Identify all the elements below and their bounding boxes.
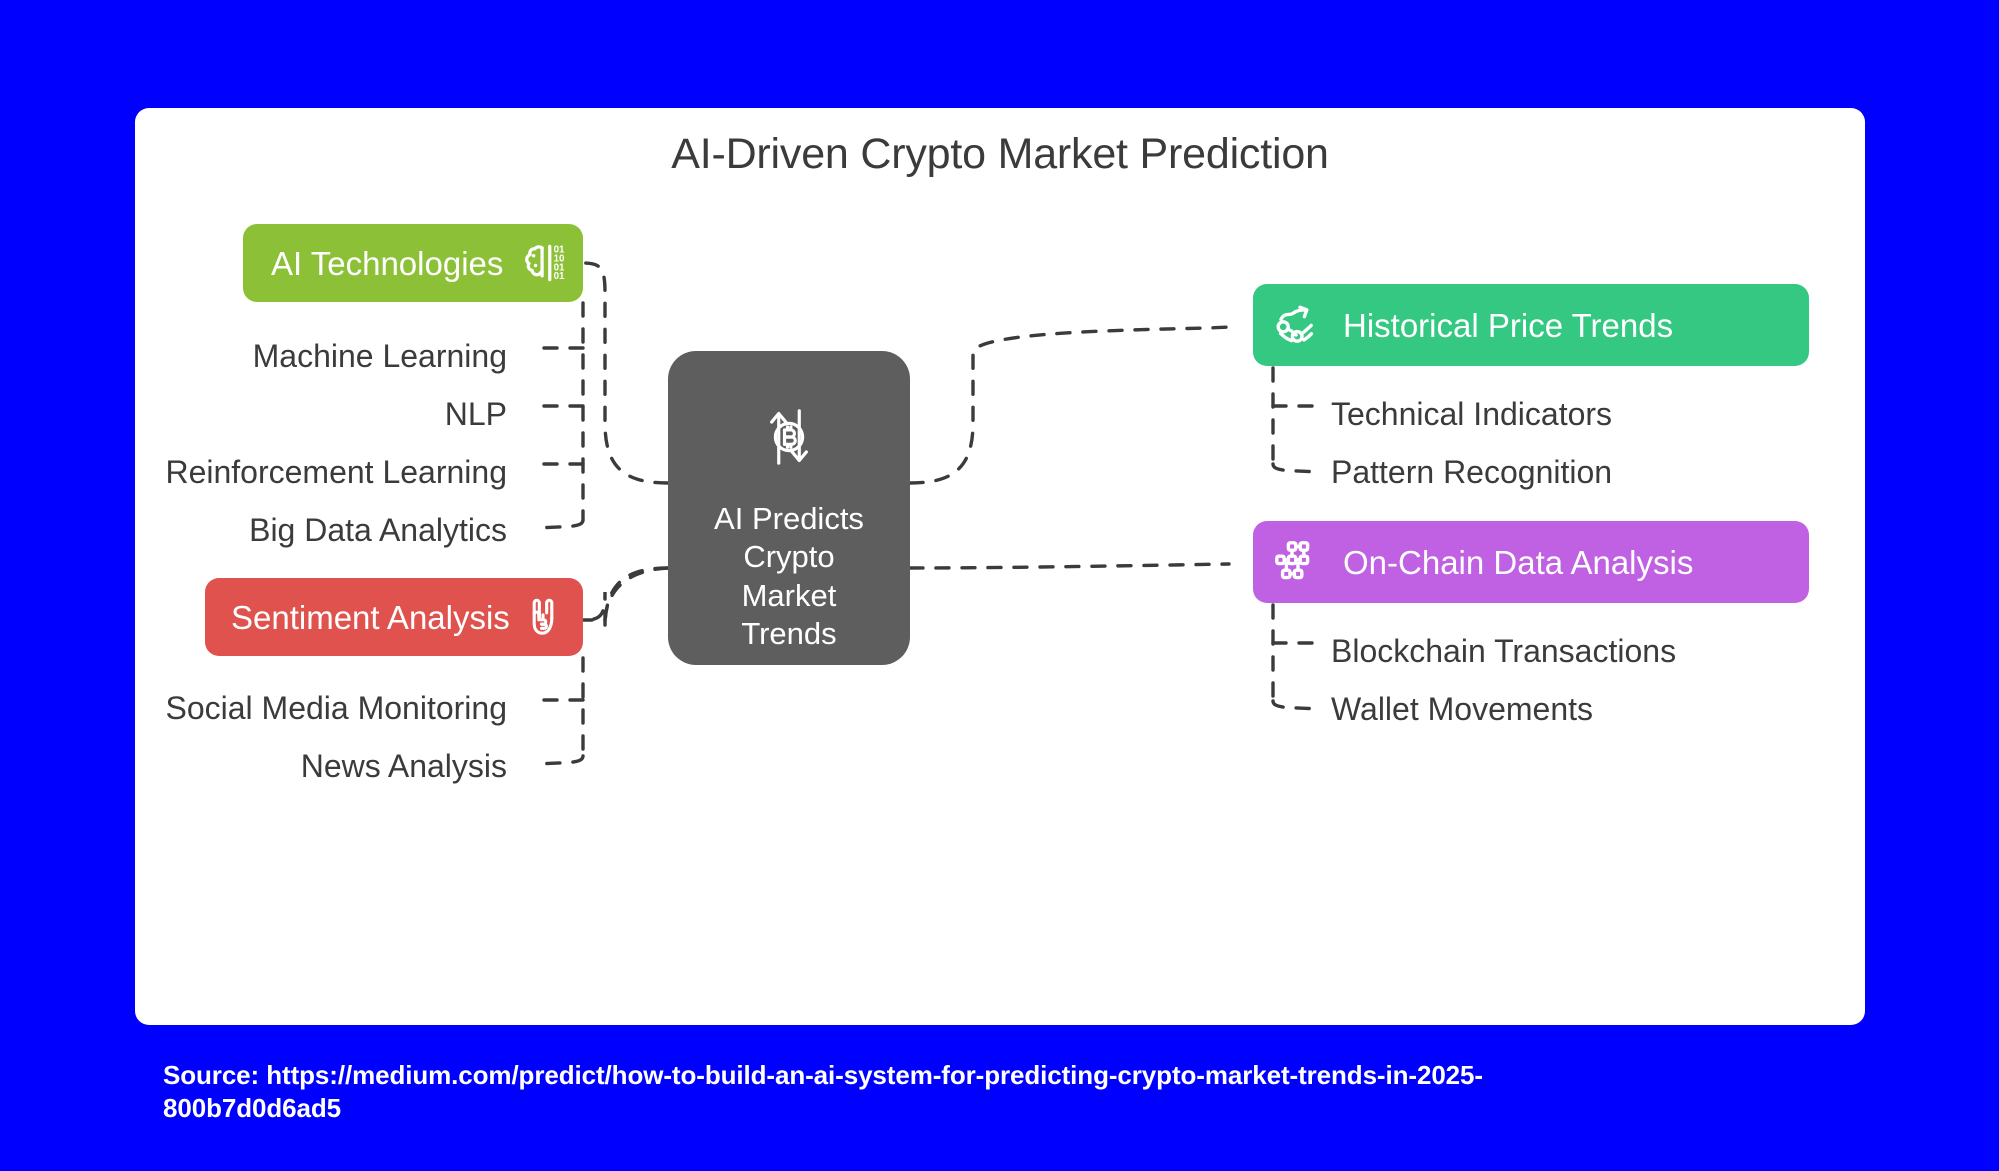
branch-label-onchain-data-analysis: On-Chain Data Analysis (1343, 546, 1693, 579)
leaf-big-data-analytics: Big Data Analytics (249, 514, 507, 546)
leaf-technical-indicators: Technical Indicators (1331, 398, 1612, 430)
leaf-nlp: NLP (445, 398, 507, 430)
leaf-machine-learning: Machine Learning (253, 340, 507, 372)
branch-pill-onchain-data-analysis[interactable]: On-Chain Data Analysis (1253, 521, 1809, 603)
branch-label-ai-technologies: AI Technologies (271, 247, 503, 280)
brain-binary-icon: 01 10 01 01 (521, 240, 567, 286)
diagram-card: AI-Driven Crypto Market Prediction (135, 108, 1865, 1025)
branch-pill-historical-price-trends[interactable]: Historical Price Trends (1253, 284, 1809, 366)
trend-up-chart-icon (1271, 301, 1321, 349)
svg-text:01: 01 (554, 271, 565, 282)
connector-center-to-sentiment (583, 568, 668, 628)
leaf-social-media-monitoring: Social Media Monitoring (166, 692, 508, 724)
branch-pill-sentiment-analysis[interactable]: Sentiment Analysis (205, 578, 583, 656)
leaf-reinforcement-learning: Reinforcement Learning (165, 456, 507, 488)
branch-pill-ai-technologies[interactable]: AI Technologies 01 10 01 01 (243, 224, 583, 302)
center-node[interactable]: AI Predicts Crypto Market Trends (668, 351, 910, 665)
connector-center-to-historical (910, 327, 1229, 483)
bitcoin-up-down-arrows-icon (761, 399, 817, 480)
leaf-blockchain-transactions: Blockchain Transactions (1331, 635, 1676, 667)
branch-label-historical-price-trends: Historical Price Trends (1343, 309, 1673, 342)
branch-label-sentiment-analysis: Sentiment Analysis (231, 601, 510, 634)
connector-center-to-ai-technologies (583, 263, 668, 483)
connector-center-to-onchain (910, 564, 1229, 568)
leaf-wallet-movements: Wallet Movements (1331, 693, 1593, 725)
source-caption: Source: https://medium.com/predict/how-t… (163, 1059, 1563, 1126)
page-title: AI-Driven Crypto Market Prediction (135, 130, 1865, 179)
connector-stub-big-data-analytics (539, 520, 583, 528)
connector-stub-news-analysis (539, 756, 583, 764)
connector-stub-wallet-movements (1273, 701, 1317, 709)
connector-center-to-sentiment-2 (583, 568, 668, 620)
center-node-label: AI Predicts Crypto Market Trends (714, 500, 864, 654)
blockchain-nodes-icon (1271, 538, 1321, 586)
leaf-pattern-recognition: Pattern Recognition (1331, 456, 1612, 488)
rock-on-hand-icon (521, 594, 565, 640)
leaf-news-analysis: News Analysis (301, 750, 507, 782)
connector-stub-pattern-recognition (1273, 464, 1317, 472)
